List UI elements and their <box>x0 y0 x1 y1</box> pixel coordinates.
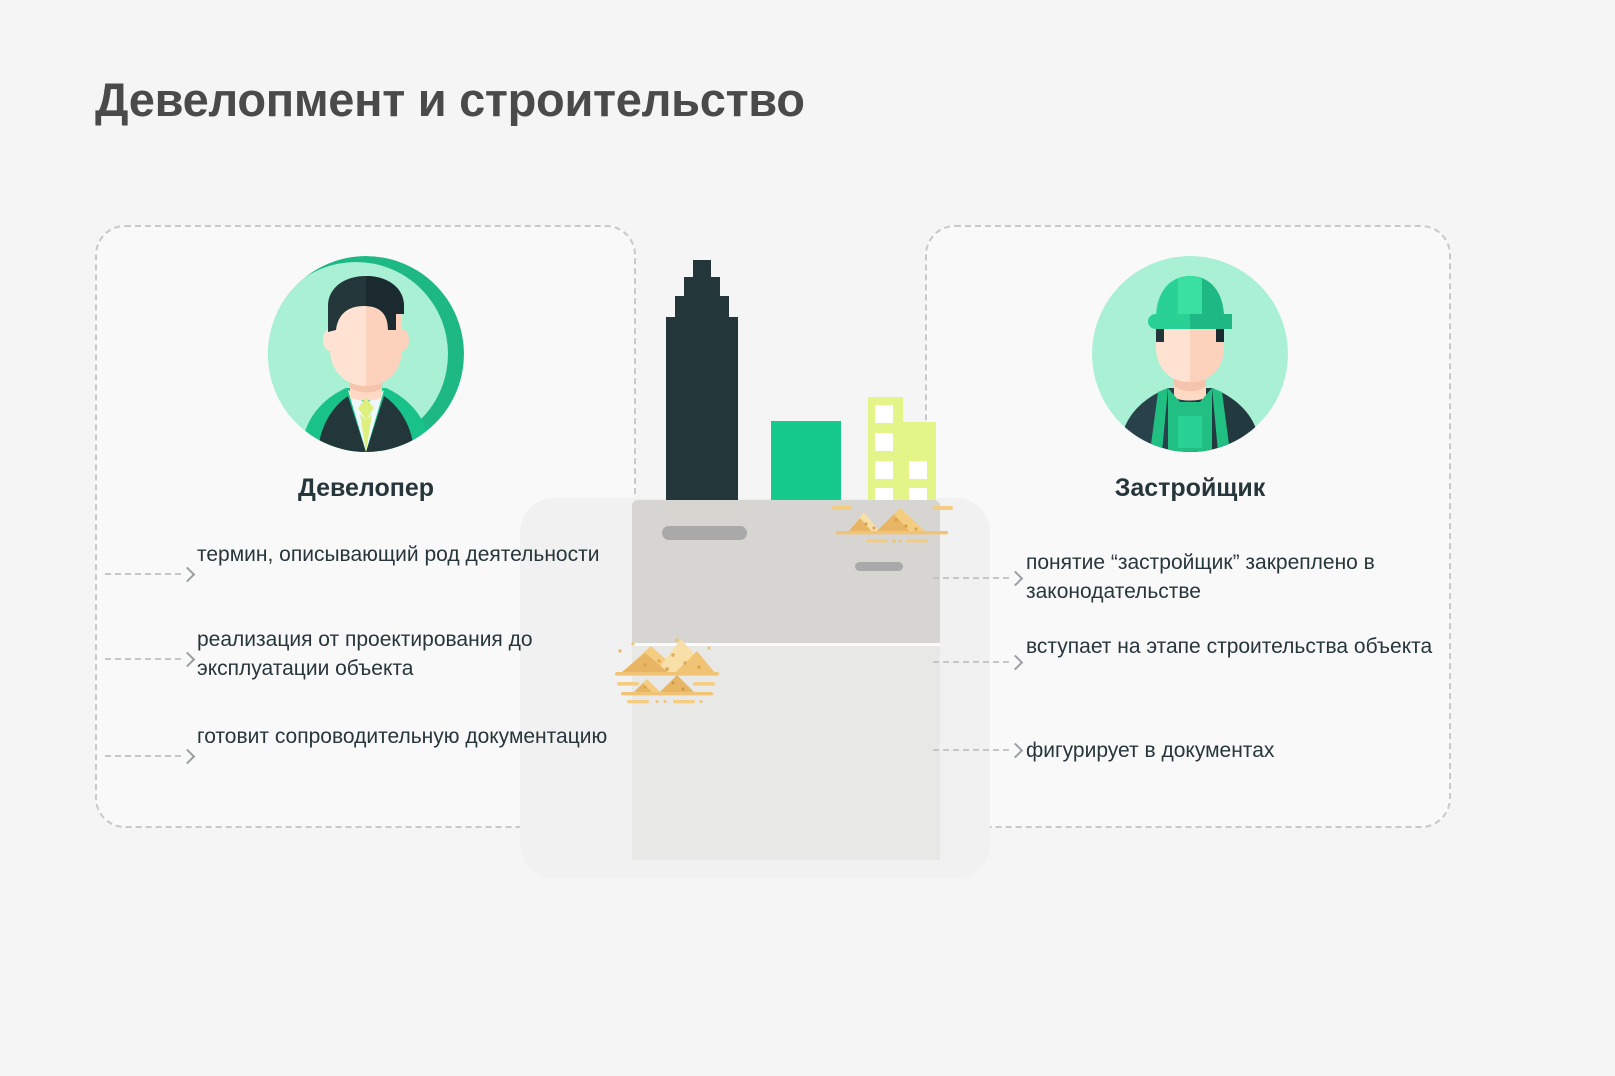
chevron-right-icon <box>180 566 196 582</box>
connector-developer-3 <box>105 750 193 762</box>
connector-builder-2 <box>933 656 1021 668</box>
chevron-right-icon <box>180 748 196 764</box>
bullet-builder-3: фигурирует в документах <box>1026 736 1446 765</box>
road-marking <box>662 526 747 540</box>
sand-pile-top <box>830 500 955 546</box>
builder-avatar <box>1092 256 1288 452</box>
window-icon <box>875 433 893 451</box>
bullet-builder-2: вступает на этапе строительства объекта <box>1026 632 1446 661</box>
connector-developer-2 <box>105 653 193 665</box>
role-name-developer: Девелопер <box>268 474 464 503</box>
chevron-right-icon <box>1008 654 1024 670</box>
window-icon <box>909 461 927 479</box>
connector-line <box>933 577 1009 579</box>
page-title: Девелопмент и строительство <box>95 72 805 127</box>
chevron-right-icon <box>1008 570 1024 586</box>
skyscraper-spire <box>693 260 711 286</box>
connector-line <box>933 661 1009 663</box>
sand-pile-middle <box>615 635 750 705</box>
window-icon <box>875 405 893 423</box>
connector-line <box>105 755 181 757</box>
connector-builder-3 <box>933 744 1021 756</box>
bullet-developer-3: готовит сопроводительную документацию <box>197 722 627 751</box>
bullet-builder-1: понятие “застройщик” закреплено в законо… <box>1026 548 1446 606</box>
construction-site-illustration <box>520 225 1000 850</box>
window-icon <box>875 461 893 479</box>
building-green <box>771 421 841 503</box>
infographic-stage: Девелопмент и строительство <box>0 0 1615 1076</box>
connector-line <box>105 573 181 575</box>
connector-builder-1 <box>933 572 1021 584</box>
role-name-builder: Застройщик <box>1092 474 1288 503</box>
connector-line <box>105 658 181 660</box>
connector-line <box>933 749 1009 751</box>
developer-avatar <box>268 256 464 452</box>
connector-developer-1 <box>105 568 193 580</box>
skyscraper-dark-body <box>666 317 738 502</box>
bullet-developer-1: термин, описывающий род деятельности <box>197 540 627 569</box>
chevron-right-icon <box>180 651 196 667</box>
road-marking <box>855 562 903 571</box>
bullet-developer-2: реализация от проектирования до эксплуат… <box>197 625 627 683</box>
chevron-right-icon <box>1008 742 1024 758</box>
